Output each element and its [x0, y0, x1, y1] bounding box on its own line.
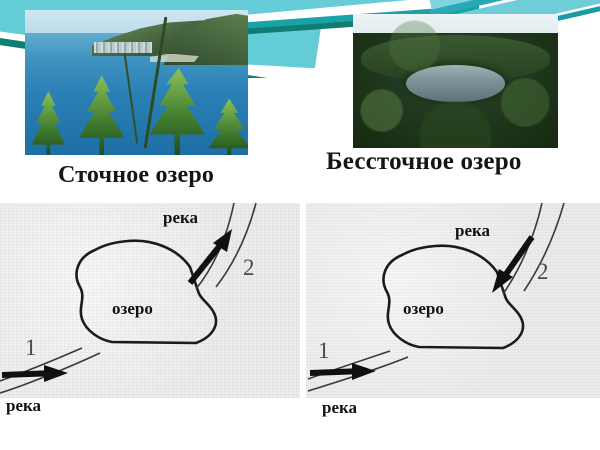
drainage-lake-photo [25, 10, 248, 155]
lake-outline [76, 241, 215, 343]
label-river-inflow-top: река [455, 221, 490, 241]
caption-endorheic-lake: Бессточное озеро [326, 148, 522, 176]
label-river-inflow: река [322, 398, 357, 418]
label-number-1: 1 [318, 338, 330, 364]
inflow-arrow-1 [310, 363, 376, 380]
label-number-1: 1 [25, 335, 37, 361]
label-lake: озеро [112, 299, 153, 319]
endorheic-lake-schematic [306, 203, 600, 398]
shoreline-village [94, 42, 152, 54]
presentation-slide: Сточное озеро Бессточное озеро река озер [0, 0, 600, 450]
outflow-arrow-2 [190, 229, 232, 283]
conifer-tree [201, 99, 248, 155]
label-number-2: 2 [537, 259, 549, 285]
foreground-trees [25, 68, 248, 155]
label-river-outflow: река [163, 208, 198, 228]
inflow-arrow-2 [492, 237, 532, 293]
label-number-2: 2 [243, 255, 255, 281]
endorheic-lake-photo [353, 14, 558, 148]
lake-outline [383, 246, 522, 348]
caption-drainage-lake: Сточное озеро [58, 162, 214, 189]
endorheic-lake-diagram [306, 203, 600, 398]
conifer-tree [25, 91, 71, 155]
label-lake: озеро [403, 299, 444, 319]
conifer-tree [141, 68, 211, 155]
forest-texture [353, 14, 558, 148]
label-river-inflow: река [6, 396, 41, 416]
conifer-tree [72, 75, 132, 155]
